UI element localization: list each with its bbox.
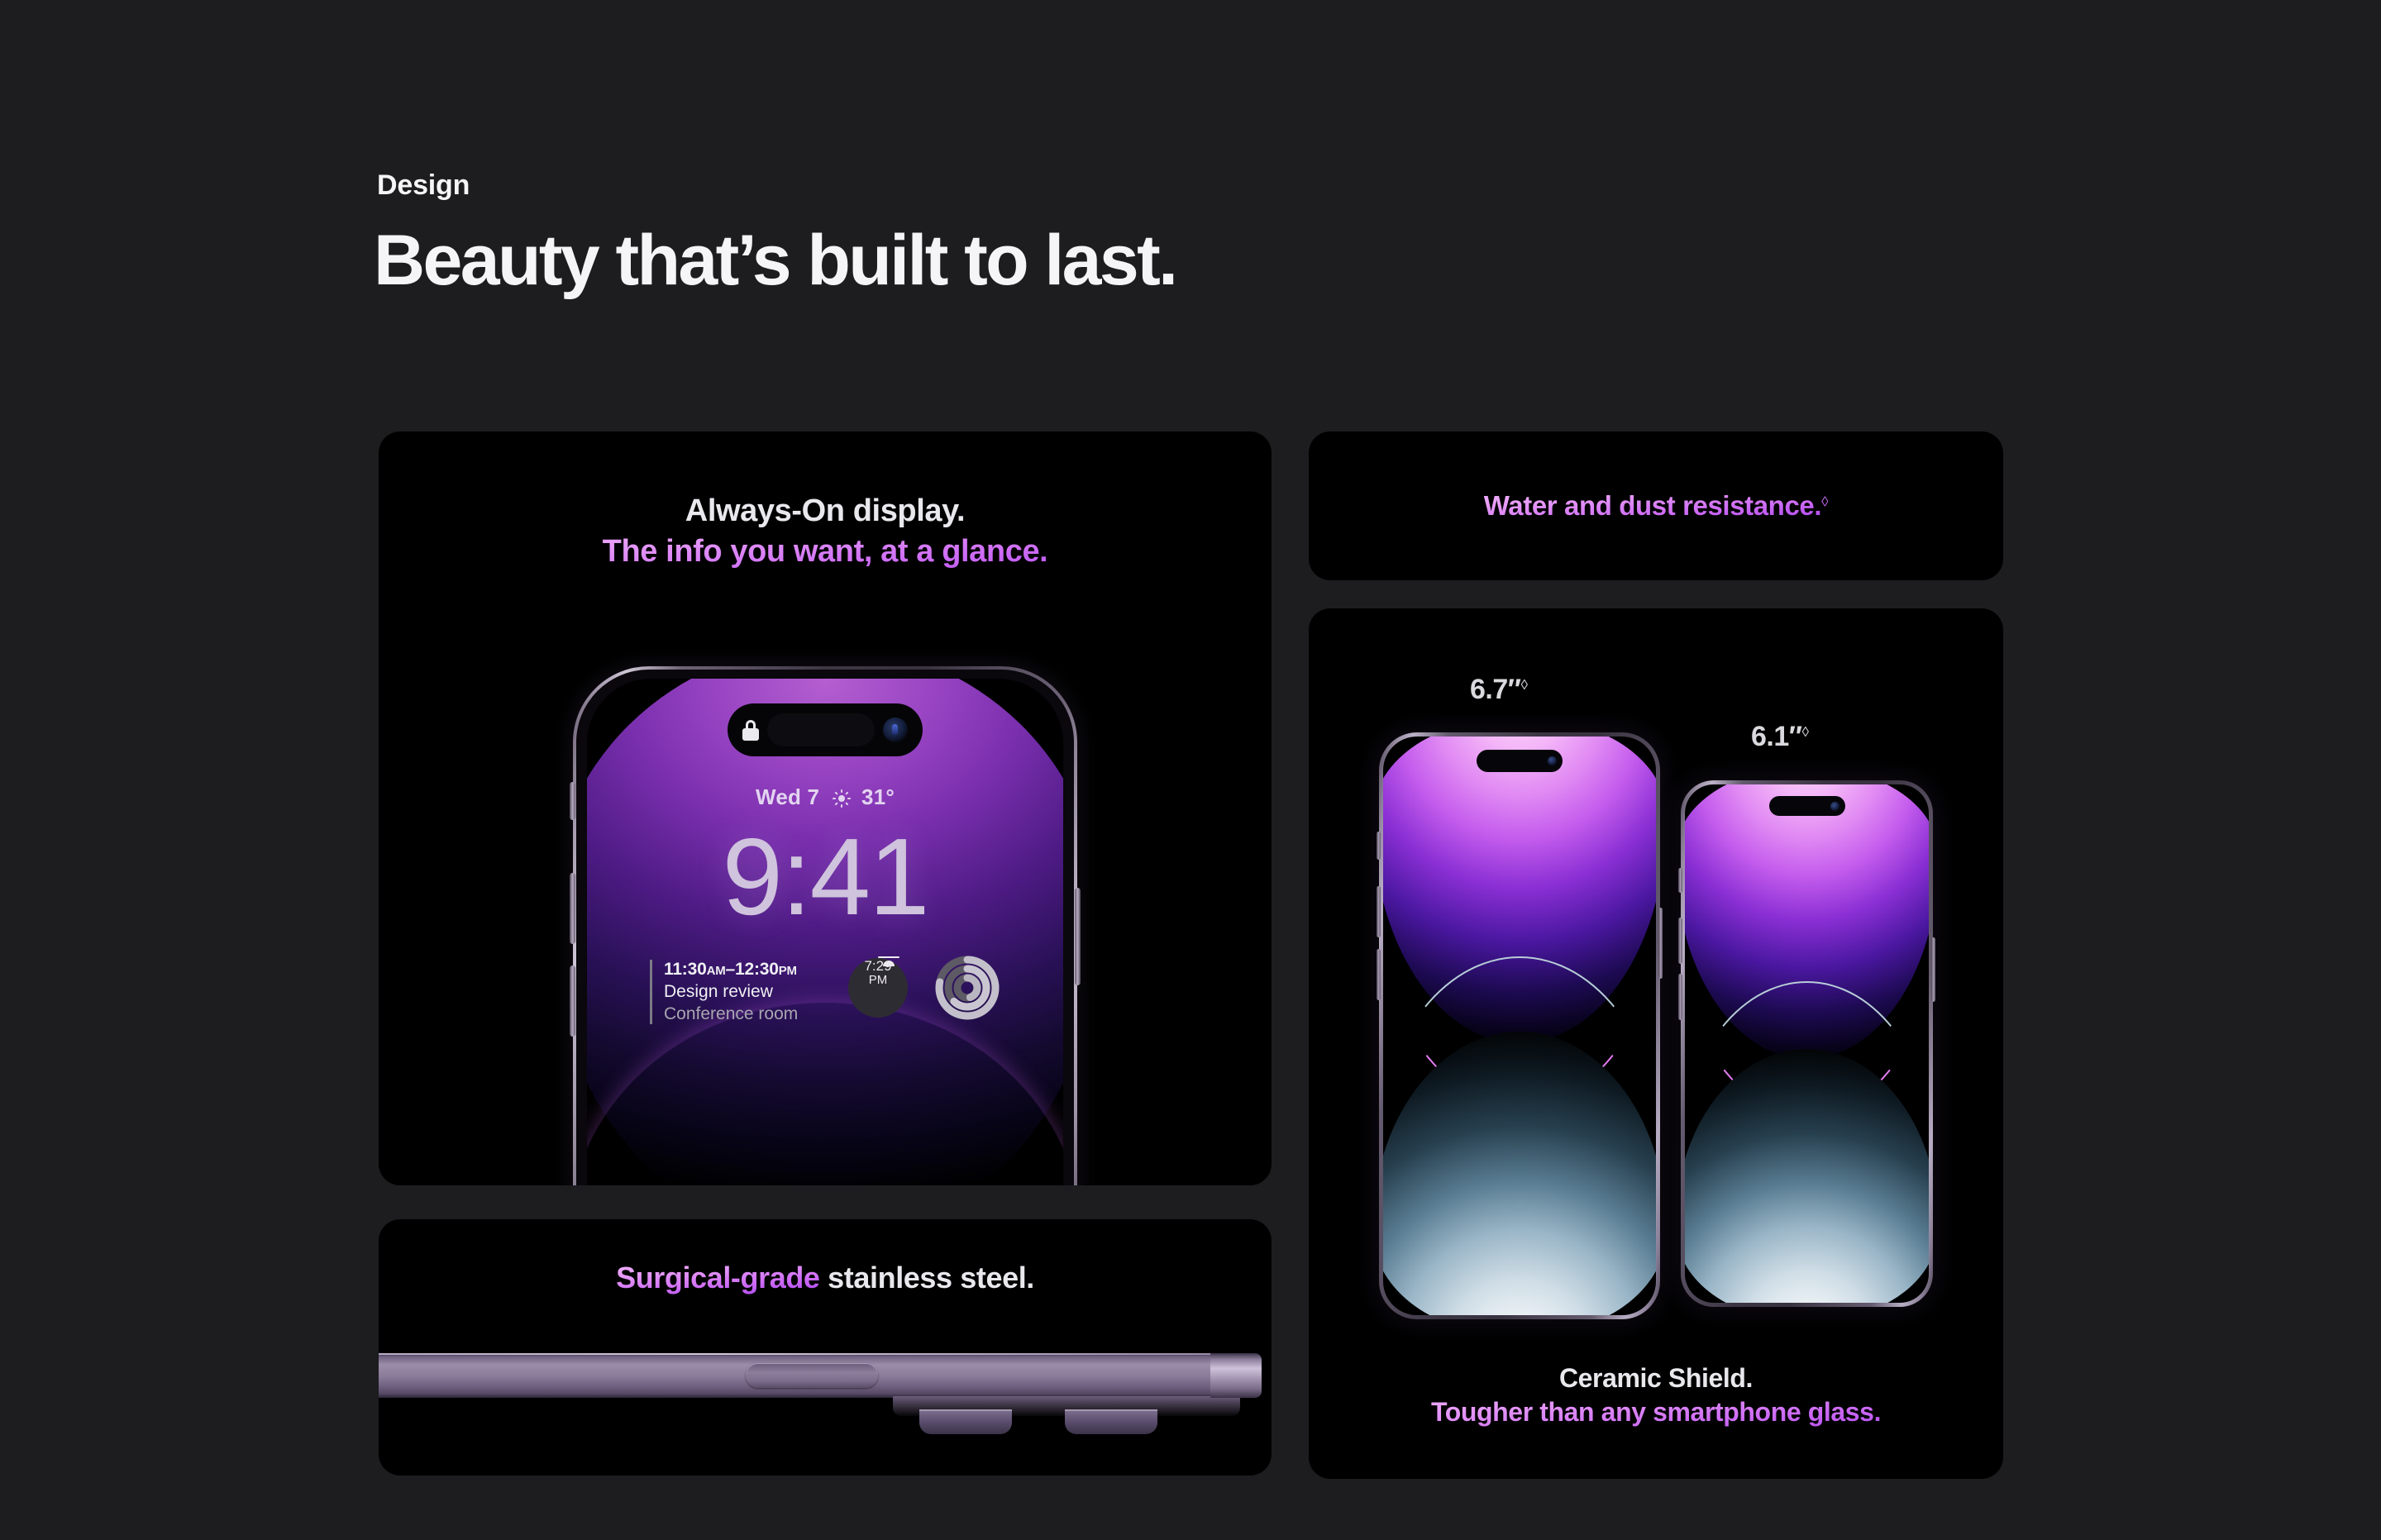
volume-up-button[interactable] [1678,918,1682,964]
volume-button-profile [746,1363,878,1388]
ceramic-shield-caption-line1: Ceramic Shield. [1309,1361,2003,1395]
stainless-steel-caption-white: stainless steel. [820,1261,1034,1294]
lockscreen-date: Wed 7 [756,784,819,809]
always-on-caption-line1: Always-On display. [379,491,1272,532]
page-title: Beauty that’s built to last. [374,223,1176,298]
screen [1685,784,1929,1303]
front-camera-icon [1830,802,1839,811]
card-stainless-steel[interactable]: Surgical-grade stainless steel. [379,1219,1272,1476]
island-pill [767,713,875,746]
sun-icon [833,790,850,807]
lockscreen-status-row: Wed 7 31° [587,784,1063,810]
wallpaper-arc-teal [1685,981,1929,1303]
size-label-large: 6.7″◊ [1470,674,1527,706]
lock-screen: Wed 7 31° 9:41 11:30AM–12:30PM [587,679,1063,1185]
ceramic-shield-caption-line2: Tougher than any smartphone glass. [1309,1395,2003,1429]
dynamic-island [1769,796,1845,816]
sunset-widget[interactable]: 7:29 PM [848,958,908,1018]
activity-rings-widget[interactable] [934,955,1000,1021]
iphone-mockup-67 [1379,732,1660,1319]
mute-switch[interactable] [1678,868,1682,893]
iphone-side-profile-image [379,1345,1272,1436]
water-dust-caption: Water and dust resistance.◊ [1309,431,2003,580]
dynamic-island [1477,750,1563,772]
sunset-widget-time: 7:29 [848,959,908,974]
volume-down-button[interactable] [570,965,575,1037]
front-camera-icon [883,718,908,742]
always-on-caption-line2: The info you want, at a glance. [379,532,1272,572]
calendar-widget-time: 11:30AM–12:30PM [664,960,798,980]
calendar-widget[interactable]: 11:30AM–12:30PM Design review Conference… [650,960,798,1024]
footnote-marker: ◊ [1802,724,1809,740]
mute-switch[interactable] [1377,832,1381,860]
lockscreen-clock: 9:41 [587,816,1063,938]
screen [1383,737,1656,1315]
camera-lens-profile-1 [919,1409,1012,1434]
dynamic-island [728,703,923,756]
section-eyebrow: Design [377,169,470,202]
front-camera-icon [1548,756,1557,765]
wallpaper-arc-teal [1383,956,1656,1315]
ceramic-shield-caption: Ceramic Shield. Tougher than any smartph… [1309,1361,2003,1429]
card-ceramic-shield[interactable]: 6.7″◊ 6.1″◊ [1309,608,2003,1479]
lockscreen-temperature: 31° [861,784,895,809]
volume-up-button[interactable] [570,873,575,944]
stainless-steel-caption-purple: Surgical-grade [616,1261,819,1294]
volume-up-button[interactable] [1377,886,1381,937]
size-label-small: 6.1″◊ [1751,721,1808,753]
design-section: Design Beauty that’s built to last. Alwa… [0,0,2381,1540]
volume-down-button[interactable] [1377,949,1381,1000]
footnote-marker: ◊ [1821,493,1828,509]
water-dust-caption-text: Water and dust resistance.◊ [1484,489,1828,523]
card-water-dust-resistance[interactable]: Water and dust resistance.◊ [1309,431,2003,580]
mute-switch[interactable] [570,782,575,820]
iphone-always-on-mockup: Wed 7 31° 9:41 11:30AM–12:30PM [573,666,1077,1185]
card-always-on-display[interactable]: Always-On display. The info you want, at… [379,431,1272,1185]
iphone-mockup-61 [1681,780,1933,1307]
calendar-widget-location: Conference room [664,1004,798,1024]
side-button[interactable] [1075,888,1081,985]
stainless-steel-caption-line: Surgical-grade stainless steel. [379,1259,1272,1297]
footnote-marker: ◊ [1521,677,1528,693]
activity-rings-icon [934,955,1000,1021]
lock-icon [742,720,759,741]
camera-lens-profile-2 [1065,1409,1157,1434]
side-button[interactable] [1658,908,1663,979]
sunset-widget-meridiem: PM [848,974,908,988]
side-button[interactable] [1931,937,1935,1002]
stainless-steel-caption: Surgical-grade stainless steel. [379,1259,1272,1297]
always-on-caption: Always-On display. The info you want, at… [379,491,1272,571]
volume-down-button[interactable] [1678,974,1682,1020]
device-corner-cap [1210,1353,1262,1398]
calendar-widget-title: Design review [664,982,798,1002]
